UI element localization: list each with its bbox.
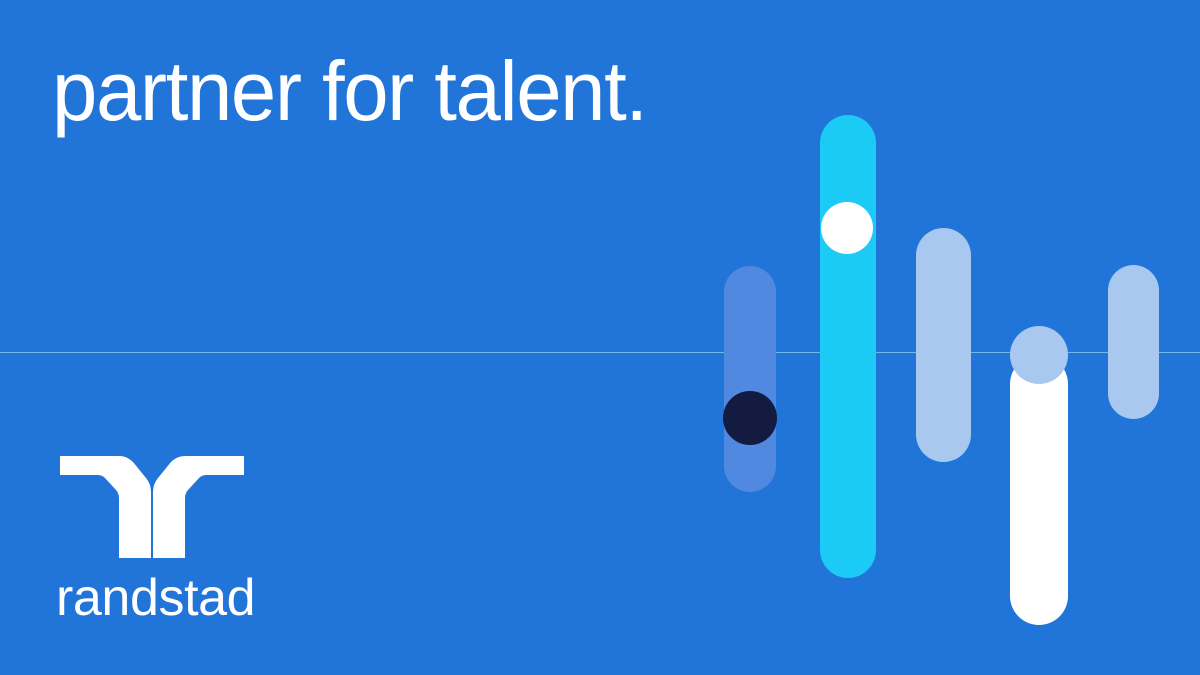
randstad-y-mark	[56, 452, 248, 562]
dot-periwinkle	[1010, 326, 1068, 384]
bar-1	[724, 266, 776, 492]
bar-5	[1108, 265, 1159, 419]
bar-2	[820, 115, 876, 578]
bar-3	[916, 228, 971, 462]
brand-logo: randstad	[56, 452, 336, 632]
brand-wordmark: randstad	[56, 572, 255, 624]
dot-white	[821, 202, 873, 254]
dot-navy	[723, 391, 777, 445]
bar-4	[1010, 355, 1068, 625]
randstad-banner: partner for talent. randstad	[0, 0, 1200, 675]
